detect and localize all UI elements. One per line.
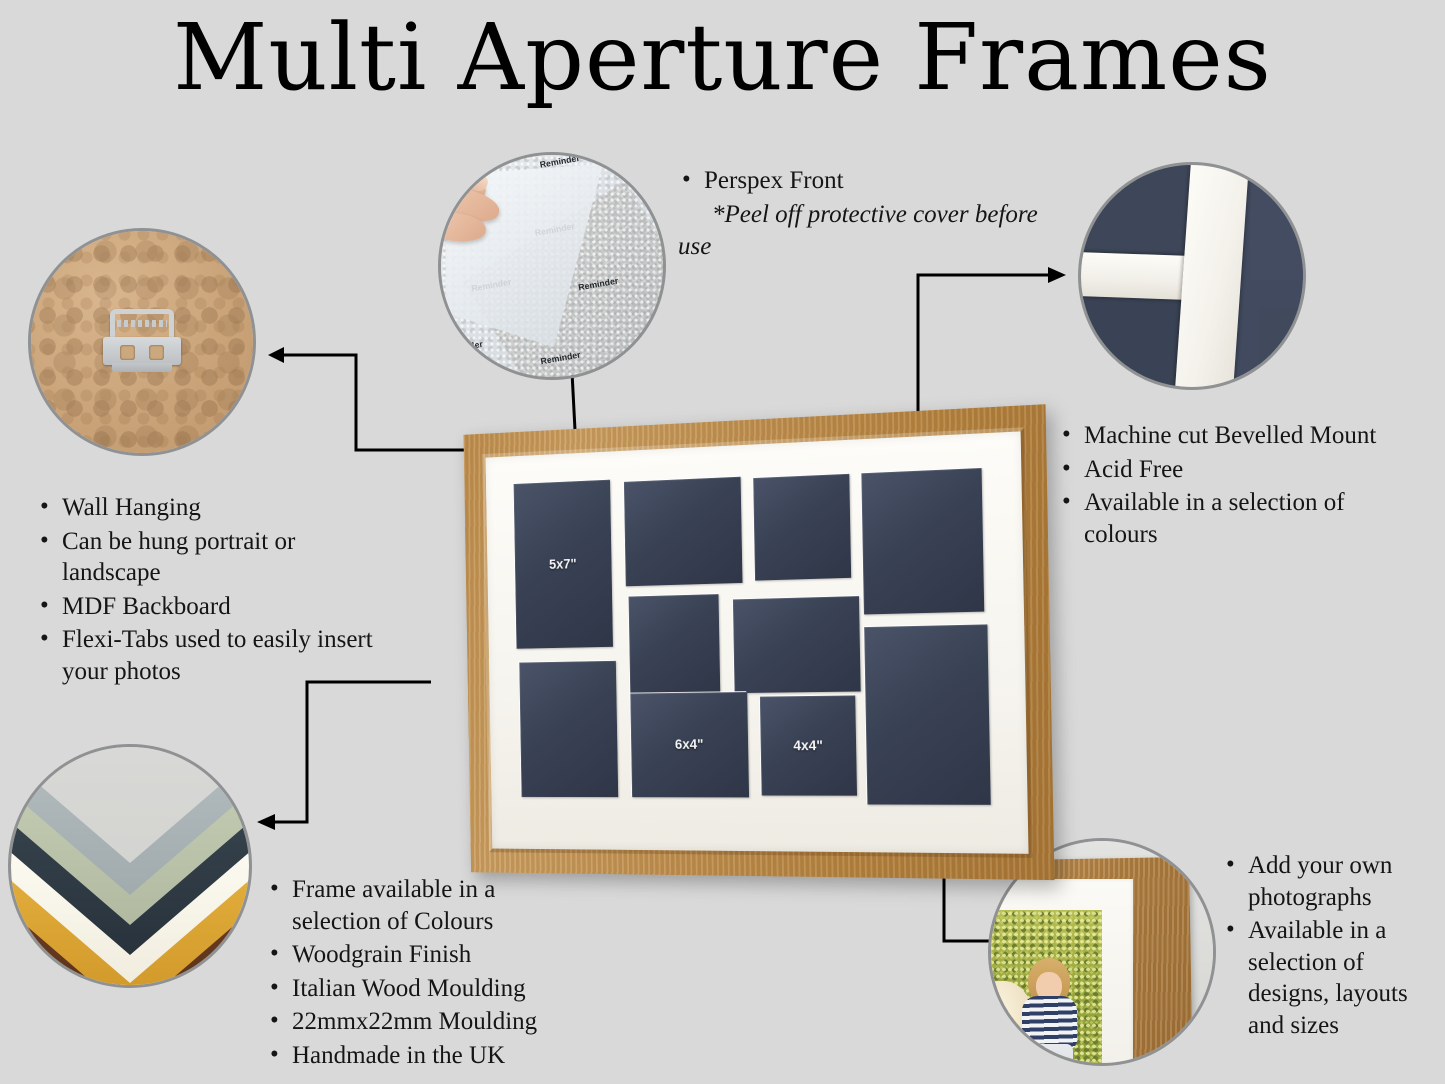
- callout-moulding: Frame available in a selection of Colour…: [266, 874, 586, 1073]
- bullet-bevelled-mount: Machine cut Bevelled Mount: [1058, 420, 1398, 452]
- mdf-board-surface: [31, 231, 253, 453]
- frame-mount: 5x7": [486, 431, 1029, 853]
- bullet-mount-colours: Available in a selection of colours: [1058, 487, 1398, 550]
- bullet-handmade-uk: Handmade in the UK: [266, 1040, 586, 1072]
- aperture-6x4-bottom: 6x4": [630, 692, 749, 798]
- aperture-top-2: [624, 477, 743, 586]
- aperture-4x4-bottom: 4x4": [760, 696, 858, 796]
- bullet-italian-wood: Italian Wood Moulding: [266, 973, 586, 1005]
- callout-photos: Add your own photographs Available in a …: [1222, 850, 1440, 1043]
- vignette-mdf-backboard: [28, 228, 256, 456]
- frame-moulding: 5x7": [463, 404, 1054, 880]
- callout-mount: Machine cut Bevelled Mount Acid Free Ava…: [1058, 420, 1398, 552]
- vignette-perspex-peel: Reminder Reminder Reminder Reminder Remi…: [438, 152, 666, 380]
- bullet-mdf-backboard: MDF Backboard: [36, 591, 376, 623]
- family-photograph: [988, 910, 1102, 1066]
- note-peel-off: *Peel off protective cover before use: [678, 199, 1038, 263]
- woman-subject: [1019, 958, 1085, 1066]
- bullet-portrait-landscape: Can be hung portrait or landscape: [36, 526, 376, 589]
- perspex-surface: Reminder Reminder Reminder Reminder Remi…: [441, 155, 663, 377]
- bullet-add-photographs: Add your own photographs: [1222, 850, 1440, 913]
- aperture-middle-2: [733, 596, 860, 694]
- vignette-colour-swatches: [8, 744, 252, 988]
- aperture-bottom-left: [519, 661, 618, 797]
- bullet-perspex-front: Perspex Front: [678, 165, 1038, 197]
- aperture-top-right: [862, 468, 984, 614]
- hand-icon: [438, 168, 525, 261]
- bevel-closeup: [1081, 165, 1303, 387]
- callout-perspex: Perspex Front *Peel off protective cover…: [678, 165, 1038, 263]
- bullet-frame-colours: Frame available in a selection of Colour…: [266, 874, 586, 937]
- bullet-flexi-tabs: Flexi-Tabs used to easily insert your ph…: [36, 624, 376, 687]
- bullet-moulding-size: 22mmx22mm Moulding: [266, 1006, 586, 1038]
- aperture-top-3: [753, 474, 850, 580]
- flexi-tab-hanger-icon: [103, 309, 181, 375]
- bullet-woodgrain: Woodgrain Finish: [266, 939, 586, 971]
- aperture-middle-1: [629, 594, 720, 693]
- page-title: Multi Aperture Frames: [0, 8, 1445, 107]
- aperture-grid: 5x7": [504, 454, 1006, 831]
- bullet-wall-hanging: Wall Hanging: [36, 492, 376, 524]
- vignette-bevelled-mount: [1078, 162, 1306, 390]
- aperture-bottom-right: [864, 624, 990, 805]
- bullet-acid-free: Acid Free: [1058, 454, 1398, 486]
- bullet-designs-layouts: Available in a selection of designs, lay…: [1222, 915, 1440, 1041]
- aperture-5x7-left: 5x7": [514, 479, 613, 649]
- main-product-frame: 5x7": [404, 404, 1050, 880]
- infographic-canvas: Multi Aperture Frames: [0, 0, 1445, 1084]
- swatch-stack: [11, 747, 249, 985]
- callout-wall-hanging: Wall Hanging Can be hung portrait or lan…: [36, 492, 376, 689]
